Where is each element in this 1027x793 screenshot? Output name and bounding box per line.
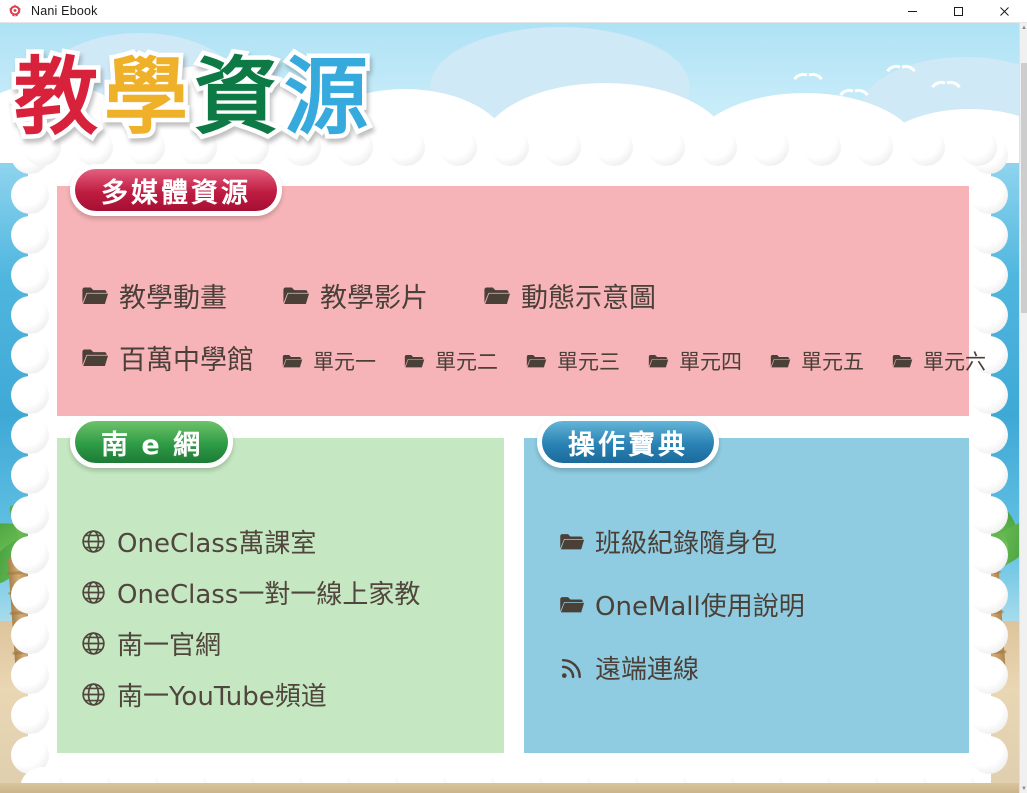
link-remote-connection[interactable]: 遠端連線: [558, 649, 805, 686]
scallop-bump: [970, 616, 1008, 654]
folder-icon: [558, 591, 585, 618]
scallop-bump: [387, 128, 425, 166]
link-dynamic-diagram[interactable]: 動態示意圖: [482, 276, 656, 315]
link-label: 班級紀錄隨身包: [595, 523, 777, 560]
link-label: OneMall使用說明: [595, 586, 805, 623]
window-titlebar: Nani Ebook: [0, 0, 1027, 23]
link-label: 動態示意圖: [521, 276, 656, 315]
scallop-bump: [803, 128, 841, 166]
link-label: 南一官網: [117, 625, 221, 662]
bird-icon: [718, 111, 744, 124]
scallop-bump: [11, 376, 49, 414]
operation-guide-list: 班級紀錄隨身包 OneMall使用說明 遠端連線: [558, 523, 805, 686]
rss-signal-icon: [558, 654, 585, 681]
link-label: 教學動畫: [119, 276, 227, 315]
wordmark-char: 資: [192, 55, 282, 139]
scroll-up-arrow[interactable]: ▲: [1020, 23, 1027, 32]
panel-operation-guide-title: 操作寶典: [537, 416, 719, 468]
link-onemall-instructions[interactable]: OneMall使用說明: [558, 586, 805, 623]
bird-icon: [930, 81, 956, 94]
scallop-bump: [11, 616, 49, 654]
globe-icon: [80, 528, 107, 555]
minimize-button[interactable]: [889, 0, 935, 23]
link-label: 單元三: [557, 346, 620, 376]
folder-icon: [558, 528, 585, 555]
maximize-button[interactable]: [935, 0, 981, 23]
link-teaching-video[interactable]: 教學影片: [281, 276, 428, 315]
scallop-bump: [970, 176, 1008, 214]
nan-e-net-list: OneClass萬課室 OneClass一對一線上家教 南一官網: [80, 523, 420, 713]
bird-icon: [792, 73, 818, 86]
scallop-bump: [11, 656, 49, 694]
scallop-bump: [970, 256, 1008, 294]
scallop-bump: [11, 696, 49, 734]
folder-icon: [281, 281, 310, 310]
link-label: 遠端連線: [595, 649, 699, 686]
scallop-bump: [491, 128, 529, 166]
wordmark-char: 教: [12, 55, 102, 139]
link-label: 單元六: [923, 346, 986, 376]
scrollbar-thumb[interactable]: [1021, 63, 1027, 313]
link-oneclass-one-to-one-tutoring[interactable]: OneClass一對一線上家教: [80, 574, 420, 611]
wordmark-char: 學: [102, 55, 192, 139]
link-label: 單元四: [679, 346, 742, 376]
scallop-bump: [11, 496, 49, 534]
panel-nan-e-net-title: 南 e 網: [70, 416, 233, 468]
globe-icon: [80, 579, 107, 606]
scallop-bump: [970, 496, 1008, 534]
panel-multimedia-title: 多媒體資源: [70, 164, 282, 216]
link-label: 教學影片: [320, 276, 428, 315]
link-unit-1[interactable]: 單元一: [281, 346, 376, 376]
folder-icon: [769, 350, 791, 372]
scallop-bump: [970, 216, 1008, 254]
scallop-bump: [907, 128, 945, 166]
folder-icon: [647, 350, 669, 372]
folder-icon: [281, 350, 303, 372]
folder-icon: [403, 350, 425, 372]
scallop-bump: [439, 128, 477, 166]
scallop-bump: [543, 128, 581, 166]
folder-icon: [80, 281, 109, 310]
link-unit-4[interactable]: 單元四: [647, 346, 742, 376]
scallop-bump: [11, 336, 49, 374]
folder-icon: [891, 350, 913, 372]
scallop-bump: [595, 128, 633, 166]
globe-icon: [80, 630, 107, 657]
scallop-bump: [970, 536, 1008, 574]
scallop-bump: [699, 128, 737, 166]
scallop-bump: [11, 416, 49, 454]
scallop-bump: [970, 656, 1008, 694]
link-unit-6[interactable]: 單元六: [891, 346, 986, 376]
scallop-bump: [11, 296, 49, 334]
link-teaching-animation[interactable]: 教學動畫: [80, 276, 227, 315]
scallop-bump: [11, 456, 49, 494]
wordmark-char: 源: [282, 55, 372, 139]
window-title: Nani Ebook: [31, 4, 98, 18]
link-unit-2[interactable]: 單元二: [403, 346, 498, 376]
scallop-bump: [959, 128, 997, 166]
page-title: 教學資源: [12, 55, 372, 139]
link-oneclass-classroom[interactable]: OneClass萬課室: [80, 523, 420, 560]
link-label: 單元一: [313, 346, 376, 376]
scroll-down-arrow[interactable]: ▼: [1020, 784, 1027, 793]
link-nani-youtube-channel[interactable]: 南一YouTube頻道: [80, 676, 420, 713]
scallop-bump: [970, 376, 1008, 414]
scallop-bump: [751, 128, 789, 166]
link-label: 南一YouTube頻道: [117, 676, 327, 713]
scallop-bump: [970, 736, 1008, 774]
link-nani-official-site[interactable]: 南一官網: [80, 625, 420, 662]
link-label: OneClass一對一線上家教: [117, 574, 420, 611]
link-unit-5[interactable]: 單元五: [769, 346, 864, 376]
vertical-scrollbar[interactable]: ▲ ▼: [1019, 23, 1027, 793]
scallop-bump: [970, 696, 1008, 734]
link-label: 單元二: [435, 346, 498, 376]
link-million-middle-school[interactable]: 百萬中學館: [80, 338, 254, 377]
scallop-bump: [11, 216, 49, 254]
link-unit-3[interactable]: 單元三: [525, 346, 620, 376]
folder-icon: [482, 281, 511, 310]
folder-icon: [80, 343, 109, 372]
bird-icon: [838, 89, 864, 102]
bottom-strip: [0, 783, 1019, 793]
link-label: 單元五: [801, 346, 864, 376]
scallop-bump: [970, 456, 1008, 494]
scallop-bump: [11, 576, 49, 614]
nani-logo-icon: [7, 3, 23, 19]
scallop-bump: [970, 416, 1008, 454]
scallop-bump: [11, 536, 49, 574]
scallop-bump: [970, 576, 1008, 614]
window-controls: [889, 0, 1027, 23]
scallop-bump: [11, 176, 49, 214]
scallop-bump: [11, 256, 49, 294]
link-class-record-kit[interactable]: 班級紀錄隨身包: [558, 523, 805, 560]
globe-icon: [80, 681, 107, 708]
scallop-bump: [855, 128, 893, 166]
link-label: 百萬中學館: [119, 338, 254, 377]
multimedia-row-units: 百萬中學館 單元一 單元二 單元三 單元四: [80, 338, 986, 377]
ebook-canvas: 教學資源 多媒體資源 教學動畫 教學影片 動態示意圖: [0, 23, 1019, 793]
link-label: OneClass萬課室: [117, 523, 316, 560]
multimedia-row-primary: 教學動畫 教學影片 動態示意圖: [80, 276, 656, 315]
scallop-bump: [970, 296, 1008, 334]
bird-icon: [885, 65, 911, 78]
folder-icon: [525, 350, 547, 372]
scallop-bump: [647, 128, 685, 166]
close-button[interactable]: [981, 0, 1027, 23]
